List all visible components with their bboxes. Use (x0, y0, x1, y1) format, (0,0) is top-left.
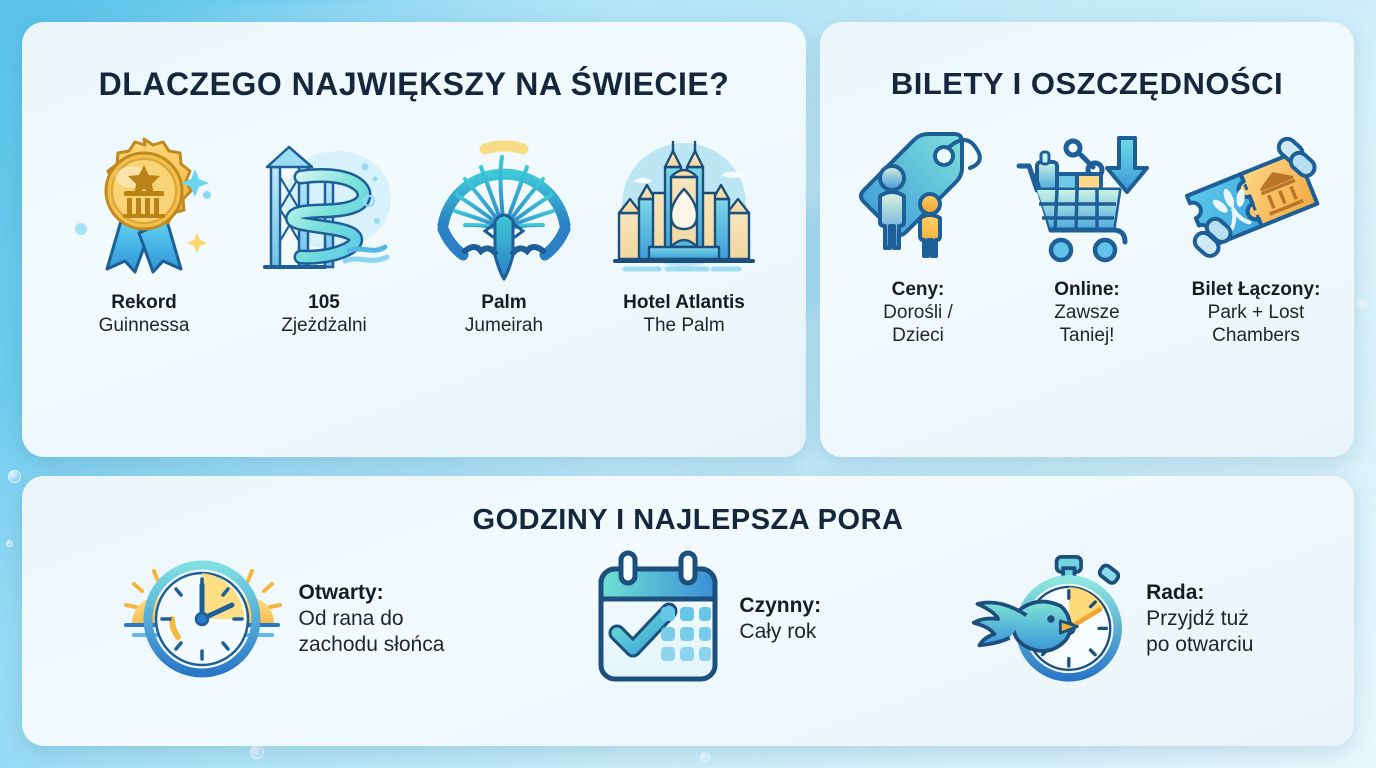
hours-label-bold: Rada: (1146, 580, 1253, 606)
panel-why-title: DLACZEGO NAJWIĘKSZY NA ŚWIECIE? (22, 66, 806, 103)
calendar-check-icon (593, 549, 723, 689)
award-medal-icon (69, 129, 219, 279)
panel-tickets-title: BILETY I OSZCZĘDNOŚCI (820, 66, 1354, 102)
card-label-normal: Dorośli / Dzieci (883, 301, 953, 347)
hours-label-normal: Cały rok (739, 619, 821, 645)
atlantis-hotel-icon (609, 129, 759, 279)
card-online: Online: Zawsze Taniej! (1005, 126, 1170, 348)
card-label-normal: The Palm (623, 314, 745, 337)
clock-sunrise-icon (122, 549, 282, 689)
panel-hours-best-time: GODZINY I NAJLEPSZA PORA (22, 476, 1354, 746)
water-slide-icon (249, 129, 399, 279)
price-tag-family-icon (848, 126, 988, 266)
panel-hours-title: GODZINY I NAJLEPSZA PORA (22, 504, 1354, 537)
card-label-bold: Ceny: (883, 278, 953, 301)
shopping-cart-discount-icon (1017, 126, 1157, 266)
card-record: Rekord Guinnessa (58, 129, 230, 337)
hours-label-normal: Od rana do zachodu słońca (298, 606, 444, 659)
card-label-normal: Park + Lost Chambers (1192, 301, 1321, 347)
hours-label-bold: Czynny: (739, 593, 821, 619)
combo-ticket-icon (1186, 126, 1326, 266)
panel-tickets-savings: BILETY I OSZCZĘDNOŚCI (820, 22, 1354, 457)
panel-why-largest: DLACZEGO NAJWIĘKSZY NA ŚWIECIE? (22, 22, 806, 457)
card-atlantis: Hotel Atlantis The Palm (598, 129, 770, 337)
card-label-normal: Zawsze Taniej! (1054, 301, 1119, 347)
card-label-bold: Hotel Atlantis (623, 291, 745, 314)
card-label-bold: Palm (465, 291, 543, 314)
card-label-normal: Zjeżdżalni (281, 314, 367, 337)
card-prices: Ceny: Dorośli / Dzieci (836, 126, 1001, 348)
card-palm: Palm Jumeirah (418, 129, 590, 337)
palm-jumeirah-icon (429, 129, 579, 279)
hours-item-open: Otwarty: Od rana do zachodu słońca (122, 549, 444, 689)
early-bird-stopwatch-icon (970, 549, 1130, 689)
card-label-bold: Rekord (99, 291, 190, 314)
hours-label-normal: Przyjdź tuż po otwarciu (1146, 606, 1253, 659)
hours-label-bold: Otwarty: (298, 580, 444, 606)
card-label-bold: Online: (1054, 278, 1119, 301)
card-combo: Bilet Łączony: Park + Lost Chambers (1174, 126, 1339, 348)
card-label-normal: Jumeirah (465, 314, 543, 337)
hours-item-tip: Rada: Przyjdź tuż po otwarciu (970, 549, 1253, 689)
card-label-normal: Guinnessa (99, 314, 190, 337)
card-label-bold: Bilet Łączony: (1192, 278, 1321, 301)
card-slides: 105 Zjeżdżalni (238, 129, 410, 337)
hours-item-year-round: Czynny: Cały rok (593, 549, 821, 689)
card-label-bold: 105 (281, 291, 367, 314)
